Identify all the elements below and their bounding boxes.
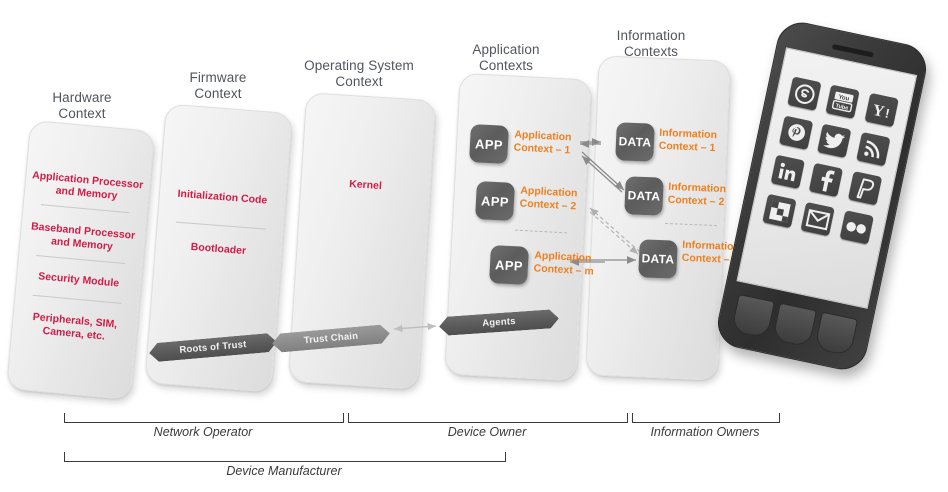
phone-home-buttons[interactable] bbox=[731, 294, 858, 357]
youtube-icon[interactable]: You Tube bbox=[826, 85, 860, 119]
skype-icon[interactable] bbox=[787, 76, 821, 110]
panel-item-label: Baseband Processor and Memory bbox=[20, 220, 145, 257]
phone-home-button[interactable] bbox=[814, 311, 858, 356]
bracket-label: Device Owner bbox=[348, 425, 626, 439]
info-context-label: Information Context – 2 bbox=[667, 181, 726, 209]
panel-divider bbox=[41, 204, 129, 213]
bracket-network-operator bbox=[64, 413, 344, 423]
panel-information-body bbox=[586, 56, 729, 379]
panel-item-label: Initialization Code bbox=[160, 186, 286, 209]
phone-screen[interactable]: You Tube Y ! bbox=[736, 47, 917, 309]
panel-divider bbox=[36, 255, 124, 264]
app-context-label: Application Context – m bbox=[533, 249, 594, 277]
column-header-information: Information Contexts bbox=[592, 28, 710, 60]
data-tile[interactable]: DATA bbox=[615, 122, 655, 162]
app-tile[interactable]: APP bbox=[475, 181, 515, 221]
flickr-icon[interactable] bbox=[839, 210, 873, 244]
phone-app-grid: You Tube Y ! bbox=[762, 76, 899, 244]
email-icon[interactable] bbox=[801, 202, 835, 236]
phone-chassis: You Tube Y ! bbox=[713, 18, 931, 374]
diagram-canvas: Hardware Context Firmware Context Operat… bbox=[0, 0, 948, 492]
panel-divider bbox=[33, 295, 121, 304]
column-header-firmware: Firmware Context bbox=[168, 70, 268, 102]
bracket-label: Information Owners bbox=[632, 425, 778, 439]
panel-item-label: Application Processor and Memory bbox=[25, 169, 150, 206]
bracket-device-manufacturer bbox=[64, 452, 506, 462]
panel-information-contexts[interactable] bbox=[585, 55, 730, 380]
column-header-hardware: Hardware Context bbox=[32, 90, 132, 122]
app-tile[interactable]: APP bbox=[489, 245, 529, 285]
column-header-application: Application Contexts bbox=[452, 42, 560, 74]
phone-speaker bbox=[832, 44, 874, 58]
data-tile[interactable]: DATA bbox=[638, 239, 678, 279]
bracket-device-owner bbox=[348, 413, 628, 423]
column-header-operating-system: Operating System Context bbox=[288, 58, 430, 90]
smartphone-illustration: You Tube Y ! bbox=[722, 18, 937, 393]
panel-hardware-context[interactable]: Application Processor and Memory Baseban… bbox=[6, 120, 155, 400]
app-context-label: Application Context – 1 bbox=[513, 129, 571, 157]
yahoo-icon[interactable]: Y ! bbox=[864, 93, 898, 127]
panel-item-label: Security Module bbox=[17, 268, 141, 292]
linkedin-icon[interactable] bbox=[771, 155, 805, 189]
trust-agents-link-arrow bbox=[388, 316, 444, 338]
panel-item-label: Bootloader bbox=[156, 238, 282, 261]
bracket-information-owners bbox=[632, 413, 780, 423]
paypal-icon[interactable] bbox=[848, 171, 882, 205]
bracket-label: Device Manufacturer bbox=[64, 464, 504, 478]
phone-home-button[interactable] bbox=[731, 294, 775, 339]
app-context-label: Application Context – 2 bbox=[519, 185, 577, 213]
pinterest-icon[interactable] bbox=[779, 116, 813, 150]
facebook-icon[interactable] bbox=[809, 163, 843, 197]
panel-hardware-body: Application Processor and Memory Baseban… bbox=[7, 121, 154, 399]
info-context-label: Information Context – 1 bbox=[658, 127, 717, 155]
panel-application-contexts[interactable] bbox=[444, 73, 592, 381]
panel-item-label: Kernel bbox=[301, 175, 430, 196]
flipboard-icon[interactable] bbox=[762, 194, 796, 228]
bracket-label: Network Operator bbox=[64, 425, 342, 439]
phone-home-button[interactable] bbox=[772, 303, 816, 348]
svg-text:!: ! bbox=[884, 106, 891, 121]
panel-item-label: Peripherals, SIM, Camera, etc. bbox=[12, 309, 137, 346]
rss-icon[interactable] bbox=[856, 132, 890, 166]
panel-divider bbox=[175, 222, 265, 230]
data-tile[interactable]: DATA bbox=[624, 176, 664, 216]
twitter-icon[interactable] bbox=[817, 124, 851, 158]
app-tile[interactable]: APP bbox=[469, 124, 509, 164]
svg-text:Tube: Tube bbox=[835, 103, 849, 112]
